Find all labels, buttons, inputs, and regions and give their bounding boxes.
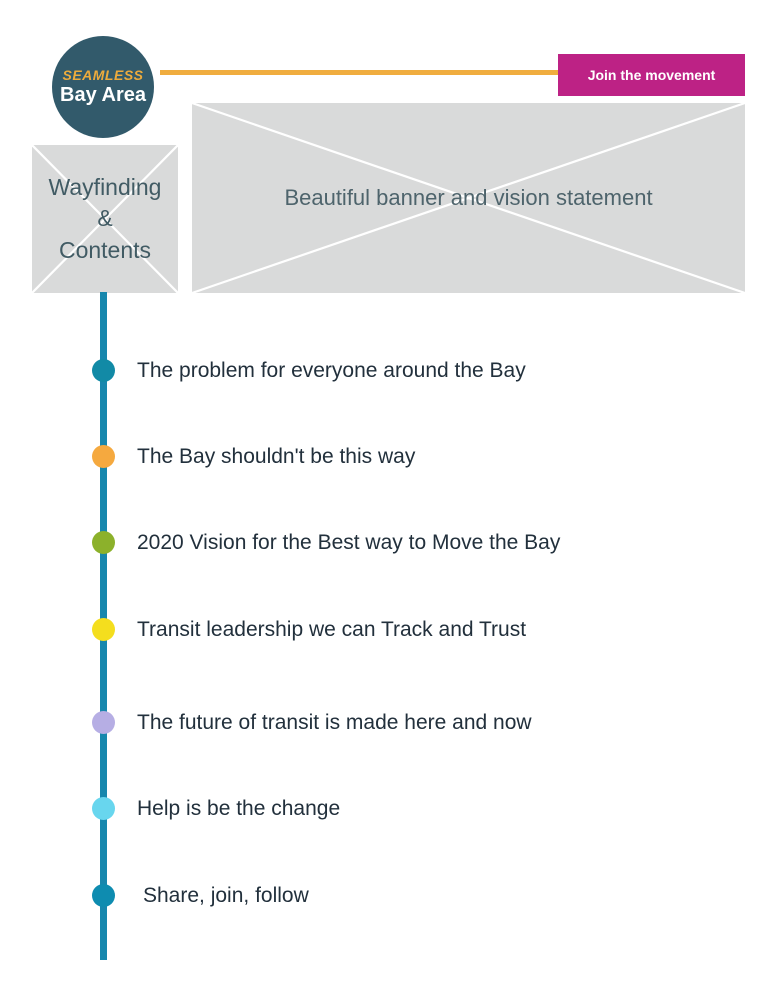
join-the-movement-button-label: Join the movement	[588, 67, 716, 83]
timeline-dot-2[interactable]	[92, 445, 115, 468]
timeline-item-label-7[interactable]: Share, join, follow	[143, 885, 309, 906]
timeline-dot-5[interactable]	[92, 711, 115, 734]
contents-timeline: The problem for everyone around the BayT…	[0, 0, 773, 1000]
brand-logo[interactable]: SEAMLESS Bay Area	[52, 36, 154, 138]
join-the-movement-button[interactable]: Join the movement	[558, 54, 745, 96]
timeline-dot-3[interactable]	[92, 531, 115, 554]
timeline-item-label-3[interactable]: 2020 Vision for the Best way to Move the…	[137, 532, 560, 553]
timeline-dot-4[interactable]	[92, 618, 115, 641]
timeline-dot-1[interactable]	[92, 359, 115, 382]
brand-logo-top-text: SEAMLESS	[62, 68, 143, 83]
timeline-item-label-6[interactable]: Help is be the change	[137, 798, 340, 819]
wayfinding-line-3: Contents	[49, 235, 162, 266]
header-divider-rule	[160, 70, 558, 75]
wayfinding-line-1: Wayfinding	[49, 172, 162, 203]
timeline-dot-6[interactable]	[92, 797, 115, 820]
timeline-item-label-1[interactable]: The problem for everyone around the Bay	[137, 360, 526, 381]
timeline-item-label-4[interactable]: Transit leadership we can Track and Trus…	[137, 619, 526, 640]
wayfinding-contents-label: Wayfinding & Contents	[49, 172, 162, 265]
brand-logo-bottom-text: Bay Area	[60, 84, 146, 106]
timeline-item-label-2[interactable]: The Bay shouldn't be this way	[137, 446, 415, 467]
timeline-item-label-5[interactable]: The future of transit is made here and n…	[137, 712, 532, 733]
wayfinding-line-2: &	[49, 203, 162, 234]
banner-vision-label: Beautiful banner and vision statement	[284, 185, 652, 211]
timeline-dot-7[interactable]	[92, 884, 115, 907]
